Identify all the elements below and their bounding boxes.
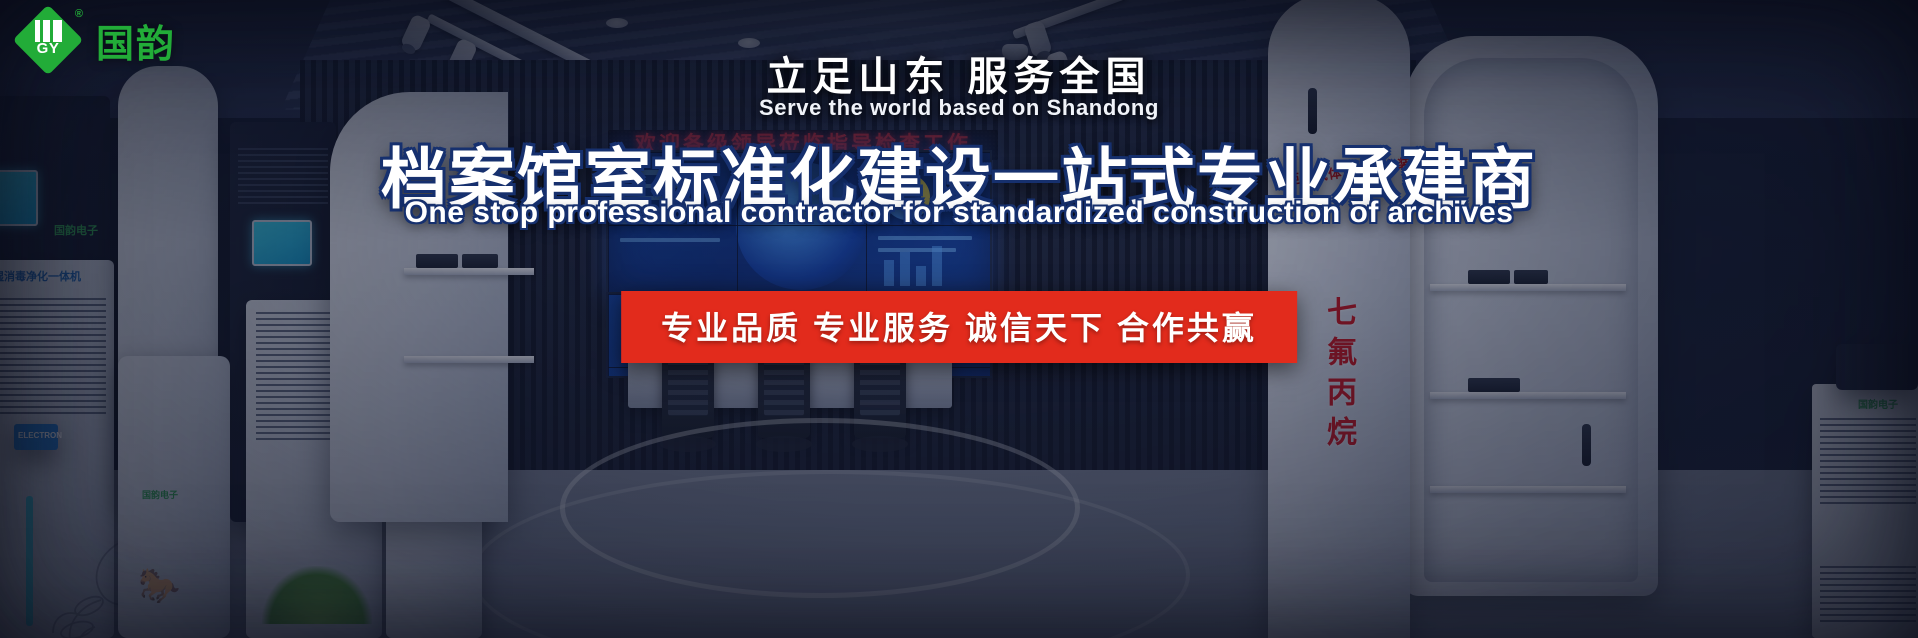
registered-mark-icon: ® — [75, 8, 83, 20]
hero-banner: 欢迎各级领导莅临指导检查工作 — [0, 0, 1918, 638]
slogan-chinese: 立足山东 服务全国 — [0, 44, 1918, 102]
headline-english: One stop professional contractor for sta… — [0, 196, 1918, 230]
cta-banner[interactable]: 专业品质 专业服务 诚信天下 合作共赢 — [621, 291, 1297, 363]
banner-text-overlay: GY ® 国韵 立足山东 服务全国 Serve the world based … — [0, 0, 1918, 638]
slogan-english: Serve the world based on Shandong — [0, 95, 1918, 121]
